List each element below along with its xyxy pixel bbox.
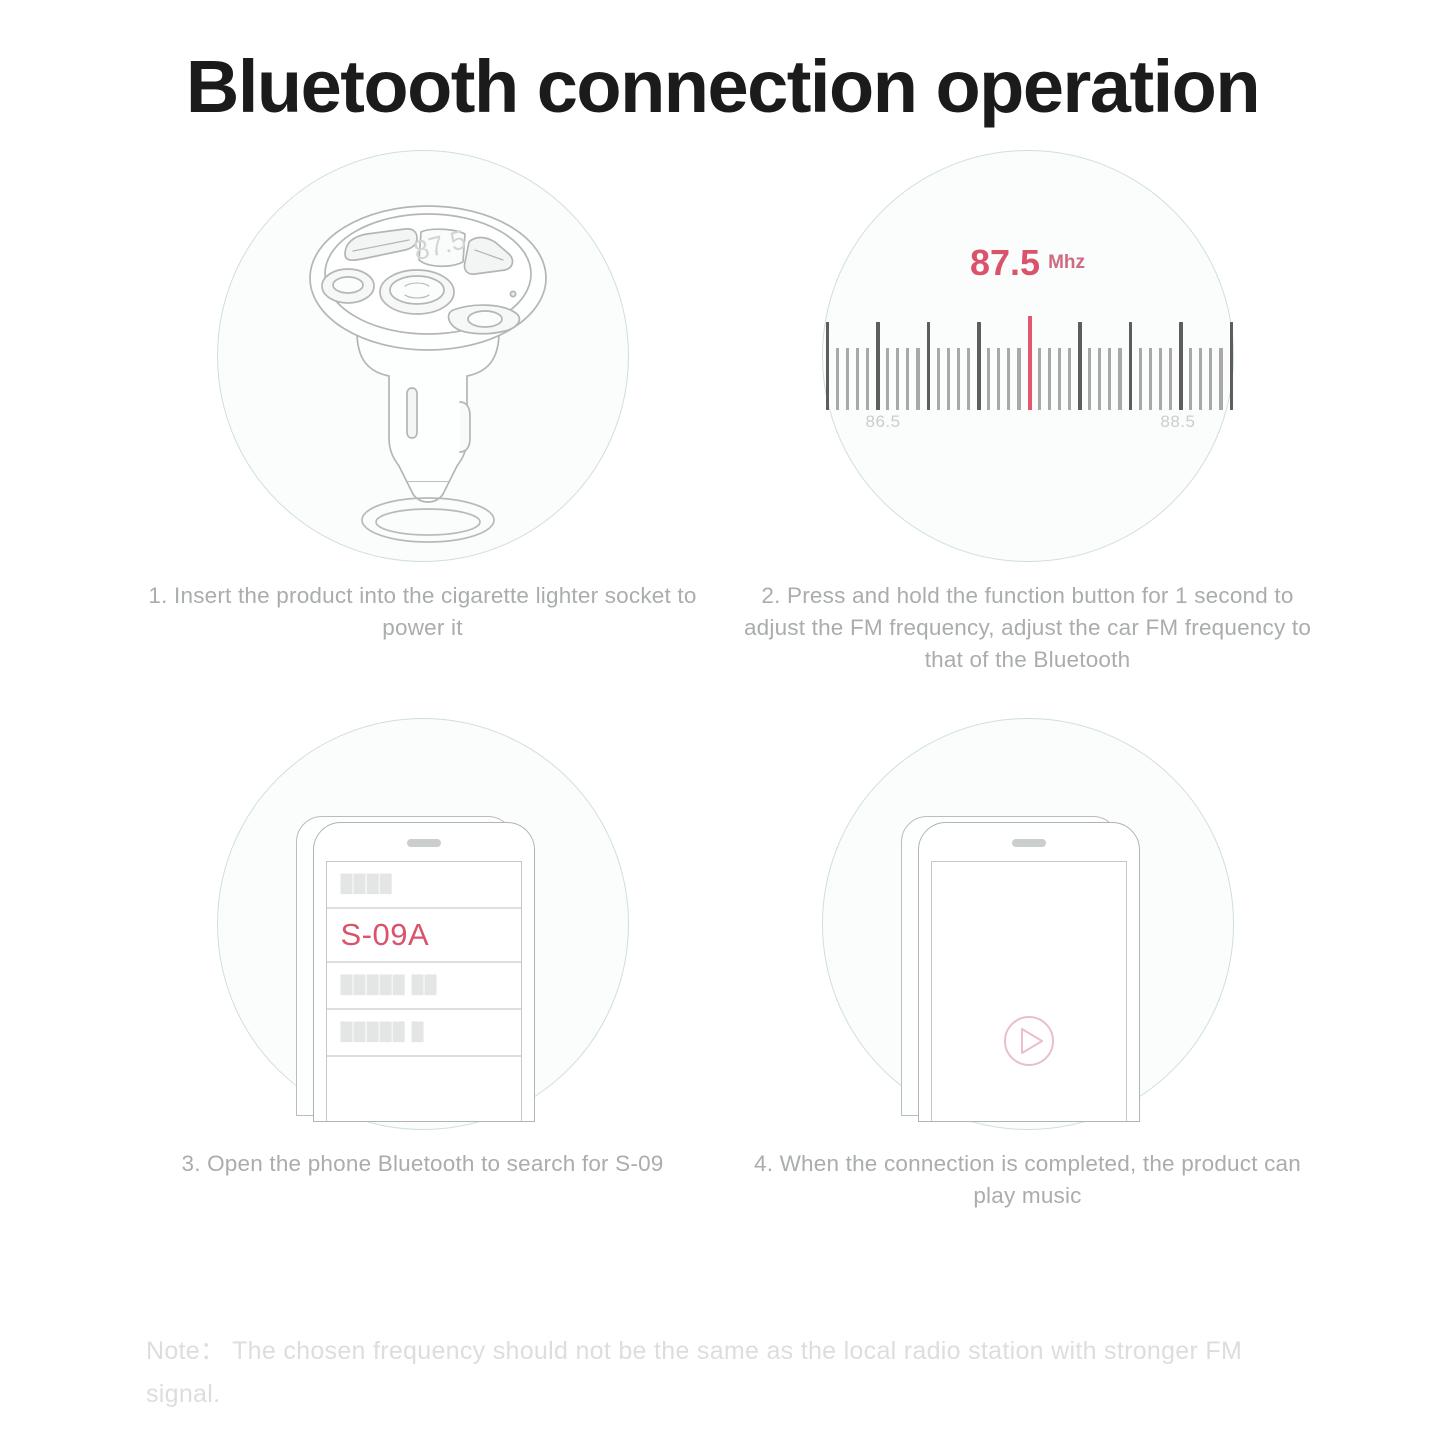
phone-speaker-icon	[407, 839, 441, 847]
dial-tick-minor	[846, 348, 849, 410]
dial-tick-minor	[1108, 348, 1111, 410]
phone-screen: ████S-09A█████ ███████ █	[326, 861, 522, 1121]
step-4: 4. When the connection is completed, the…	[725, 718, 1330, 1212]
dial-tick-minor	[1139, 348, 1142, 410]
dial-tick-minor	[1209, 348, 1212, 410]
dial-tick-minor	[836, 348, 839, 410]
dial-tick-minor	[1007, 348, 1010, 410]
bluetooth-device-name: █████ █	[341, 1022, 425, 1042]
fm-frequency-value: 87.5	[970, 242, 1040, 283]
dial-tick-major	[1129, 322, 1133, 410]
phone-front-shell	[918, 822, 1140, 1122]
page-title: Bluetooth connection operation	[0, 44, 1445, 129]
dial-tick-major	[1179, 322, 1183, 410]
dial-tick-minor	[1098, 348, 1101, 410]
dial-tick-major	[927, 322, 931, 410]
step-4-illustration	[822, 718, 1234, 1130]
steps-row-2: ████S-09A█████ ███████ █ 3. Open the pho…	[120, 718, 1330, 1212]
fm-frequency-unit: Mhz	[1048, 252, 1085, 273]
phone-bluetooth-list: ████S-09A█████ ███████ █	[217, 718, 629, 1130]
dial-tick-minor	[906, 348, 909, 410]
dial-tick-active	[1028, 316, 1032, 410]
dial-tick-minor	[1219, 348, 1222, 410]
dial-tick-minor	[1017, 348, 1020, 410]
dial-tick-minor	[1118, 348, 1121, 410]
fm-frequency-dial[interactable]	[826, 310, 1230, 410]
dial-tick-minor	[856, 348, 859, 410]
step-3: ████S-09A█████ ███████ █ 3. Open the pho…	[120, 718, 725, 1212]
dial-tick-major	[876, 322, 880, 410]
phone-screen	[931, 861, 1127, 1121]
dial-tick-minor	[866, 348, 869, 410]
step-1-caption: 1. Insert the product into the cigarette…	[138, 580, 708, 644]
dial-tick-minor	[886, 348, 889, 410]
dial-tick-major	[826, 322, 830, 410]
dial-tick-minor	[937, 348, 940, 410]
bluetooth-device-row[interactable]: █████ ██	[327, 963, 521, 1010]
dial-tick-minor	[1149, 348, 1152, 410]
infographic-page: Bluetooth connection operation	[0, 0, 1445, 1445]
phone-play-music	[822, 718, 1234, 1130]
dial-tick-minor	[987, 348, 990, 410]
play-icon[interactable]	[1002, 1014, 1056, 1068]
bluetooth-device-name: █████ ██	[341, 975, 438, 995]
dial-tick-minor	[1038, 348, 1041, 410]
bluetooth-device-list[interactable]: ████S-09A█████ ███████ █	[327, 862, 521, 1057]
dial-tick-minor	[1058, 348, 1061, 410]
fm-frequency-readout: 87.5Mhz	[822, 242, 1234, 284]
bluetooth-device-row[interactable]: ████	[327, 862, 521, 909]
dial-tick-minor	[947, 348, 950, 410]
steps-row-1: 87.5 1. Insert the product into the ciga…	[120, 150, 1330, 676]
bluetooth-device-name: ████	[341, 874, 393, 894]
dial-tick-major	[977, 322, 981, 410]
phone-speaker-icon	[1012, 839, 1046, 847]
dial-tick-minor	[1068, 348, 1071, 410]
dial-tick-minor	[1189, 348, 1192, 410]
dial-tick-minor	[1159, 348, 1162, 410]
dial-tick-minor	[916, 348, 919, 410]
step-4-caption: 4. When the connection is completed, the…	[743, 1148, 1313, 1212]
dial-tick-minor	[896, 348, 899, 410]
step-2: 87.5Mhz 86.5 88.5 2. Press and hold the …	[725, 150, 1330, 676]
dial-tick-minor	[1048, 348, 1051, 410]
phone-front-shell: ████S-09A█████ ███████ █	[313, 822, 535, 1122]
step-1: 87.5 1. Insert the product into the ciga…	[120, 150, 725, 676]
car-charger-icon: 87.5	[217, 150, 629, 562]
dial-tick-minor	[967, 348, 970, 410]
step-2-caption: 2. Press and hold the function button fo…	[733, 580, 1323, 676]
dial-tick-minor	[957, 348, 960, 410]
dial-tick-minor	[1199, 348, 1202, 410]
note-text: Note： The chosen frequency should not be…	[146, 1330, 1296, 1416]
dial-tick-minor	[997, 348, 1000, 410]
bluetooth-device-row[interactable]: █████ █	[327, 1010, 521, 1057]
dial-tick-minor	[1088, 348, 1091, 410]
step-3-illustration: ████S-09A█████ ███████ █	[217, 718, 629, 1130]
dial-tick-major	[1230, 322, 1234, 410]
step-3-caption: 3. Open the phone Bluetooth to search fo…	[138, 1148, 708, 1180]
step-2-illustration: 87.5Mhz 86.5 88.5	[822, 150, 1234, 562]
steps-grid: 87.5 1. Insert the product into the ciga…	[120, 150, 1330, 1212]
bluetooth-device-name: S-09A	[341, 917, 430, 953]
step-1-illustration: 87.5	[217, 150, 629, 562]
bluetooth-device-row-selected[interactable]: S-09A	[327, 909, 521, 963]
dial-tick-major	[1078, 322, 1082, 410]
dial-tick-minor	[1169, 348, 1172, 410]
fm-scale-min-label: 86.5	[866, 412, 901, 432]
fm-scale-max-label: 88.5	[1160, 412, 1195, 432]
